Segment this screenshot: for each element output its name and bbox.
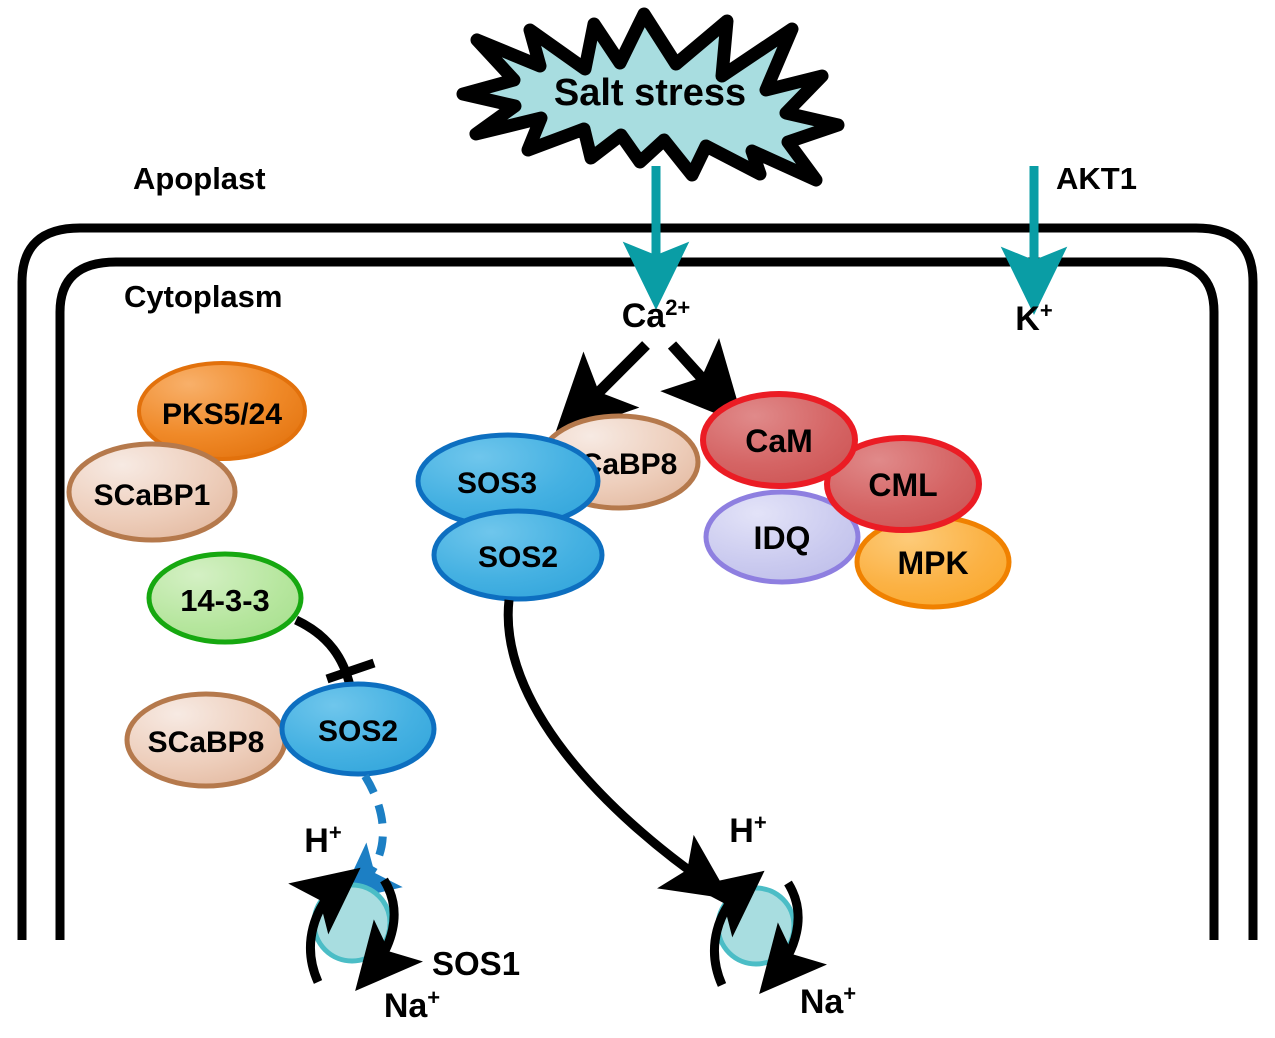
inhibition-14-3-3-sos2 [296,620,374,686]
k-influx-arrow: K+ AKT1 [1015,161,1137,338]
protein-scabp8-left[interactable]: SCaBP8 [127,694,285,786]
sos1-label: SOS1 [432,945,520,982]
sos2-to-sos1-left-dashed-arrow [356,776,383,888]
sos3-label: SOS3 [457,467,537,500]
akt1-label: AKT1 [1056,161,1137,196]
sos2-center-label: SOS2 [478,541,558,574]
ca-influx-arrow: Ca2+ [622,166,691,335]
protein-sos2-left[interactable]: SOS2 [282,684,434,774]
ca-to-scabp8-arrow [571,345,646,420]
sos2-to-sos1-right-arrow [508,600,714,888]
h-ion-label-left: H+ [304,820,341,860]
na-ion-label-left: Na+ [384,985,440,1025]
sos2-left-label: SOS2 [318,715,398,748]
protein-cam[interactable]: CaM [703,394,855,486]
mpk-label: MPK [897,545,968,581]
salt-stress-burst: Salt stress [463,14,838,180]
diagram-canvas: Salt stress Apoplast Cytoplasm Ca2+ K+ A… [0,0,1275,1038]
na-ion-label-right: Na+ [800,981,856,1021]
scabp8-left-label: SCaBP8 [148,726,265,759]
ca-to-cam-arrow [672,345,728,407]
transporter-sos1-left[interactable]: H+ Na+ SOS1 [304,820,520,1025]
ca-ion-label: Ca2+ [622,295,691,335]
apoplast-label: Apoplast [133,161,266,196]
cam-label: CaM [745,423,813,459]
protein-scabp1[interactable]: SCaBP1 [69,444,235,540]
pks5-24-label: PKS5/24 [162,398,282,431]
h-ion-label-right: H+ [729,810,766,850]
salt-stress-label: Salt stress [554,72,746,114]
pathway-diagram: Salt stress Apoplast Cytoplasm Ca2+ K+ A… [0,0,1275,1038]
cytoplasm-label: Cytoplasm [124,279,282,314]
cml-label: CML [868,467,937,503]
protein-sos2-center[interactable]: SOS2 [434,511,602,599]
14-3-3-label: 14-3-3 [180,583,270,618]
idq-label: IDQ [754,520,811,556]
k-ion-label: K+ [1015,298,1052,338]
scabp1-label: SCaBP1 [94,479,211,512]
transporter-sos1-right[interactable]: H+ Na+ [715,810,857,1021]
protein-14-3-3[interactable]: 14-3-3 [149,554,301,642]
